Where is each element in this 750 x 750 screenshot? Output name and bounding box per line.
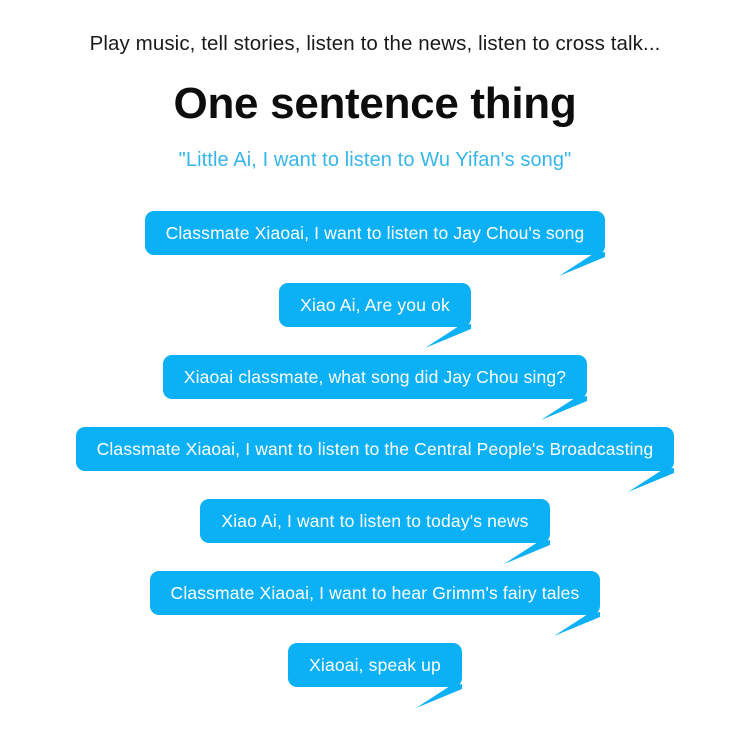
speech-bubble-tail-icon: [554, 612, 600, 636]
list-item: Xiaoai, speak up: [0, 643, 750, 715]
speech-bubble[interactable]: Classmate Xiaoai, I want to listen to Ja…: [145, 211, 606, 255]
speech-bubble-tail-icon: [559, 252, 605, 276]
speech-bubble-tail-icon: [504, 540, 550, 564]
speech-bubble-tail-icon: [628, 468, 674, 492]
list-item: Xiaoai classmate, what song did Jay Chou…: [0, 355, 750, 427]
speech-bubble-label: Classmate Xiaoai, I want to hear Grimm's…: [171, 583, 580, 604]
speech-bubble-tail-icon: [425, 324, 471, 348]
speech-bubble-label: Classmate Xiaoai, I want to listen to th…: [97, 439, 654, 460]
speech-bubble[interactable]: Xiaoai, speak up: [288, 643, 462, 687]
list-item: Classmate Xiaoai, I want to listen to Ja…: [0, 211, 750, 283]
speech-bubble-label: Xiaoai classmate, what song did Jay Chou…: [184, 367, 566, 388]
speech-bubble-label: Xiaoai, speak up: [309, 655, 441, 676]
list-item: Classmate Xiaoai, I want to hear Grimm's…: [0, 571, 750, 643]
list-item: Xiao Ai, Are you ok: [0, 283, 750, 355]
speech-bubble[interactable]: Xiaoai classmate, what song did Jay Chou…: [163, 355, 587, 399]
speech-bubble-label: Classmate Xiaoai, I want to listen to Ja…: [166, 223, 585, 244]
list-item: Classmate Xiaoai, I want to listen to th…: [0, 427, 750, 499]
speech-bubble-list: Classmate Xiaoai, I want to listen to Ja…: [0, 211, 750, 715]
speech-bubble[interactable]: Xiao Ai, I want to listen to today's new…: [200, 499, 549, 543]
page-subtitle: "Little Ai, I want to listen to Wu Yifan…: [0, 147, 750, 174]
promo-page: Play music, tell stories, listen to the …: [0, 0, 750, 750]
tagline: Play music, tell stories, listen to the …: [0, 31, 750, 57]
page-title: One sentence thing: [0, 77, 750, 131]
speech-bubble[interactable]: Xiao Ai, Are you ok: [279, 283, 471, 327]
list-item: Xiao Ai, I want to listen to today's new…: [0, 499, 750, 571]
speech-bubble-label: Xiao Ai, Are you ok: [300, 295, 450, 316]
speech-bubble[interactable]: Classmate Xiaoai, I want to listen to th…: [76, 427, 675, 471]
speech-bubble[interactable]: Classmate Xiaoai, I want to hear Grimm's…: [150, 571, 601, 615]
speech-bubble-tail-icon: [541, 396, 587, 420]
speech-bubble-tail-icon: [416, 684, 462, 708]
speech-bubble-label: Xiao Ai, I want to listen to today's new…: [221, 511, 528, 532]
